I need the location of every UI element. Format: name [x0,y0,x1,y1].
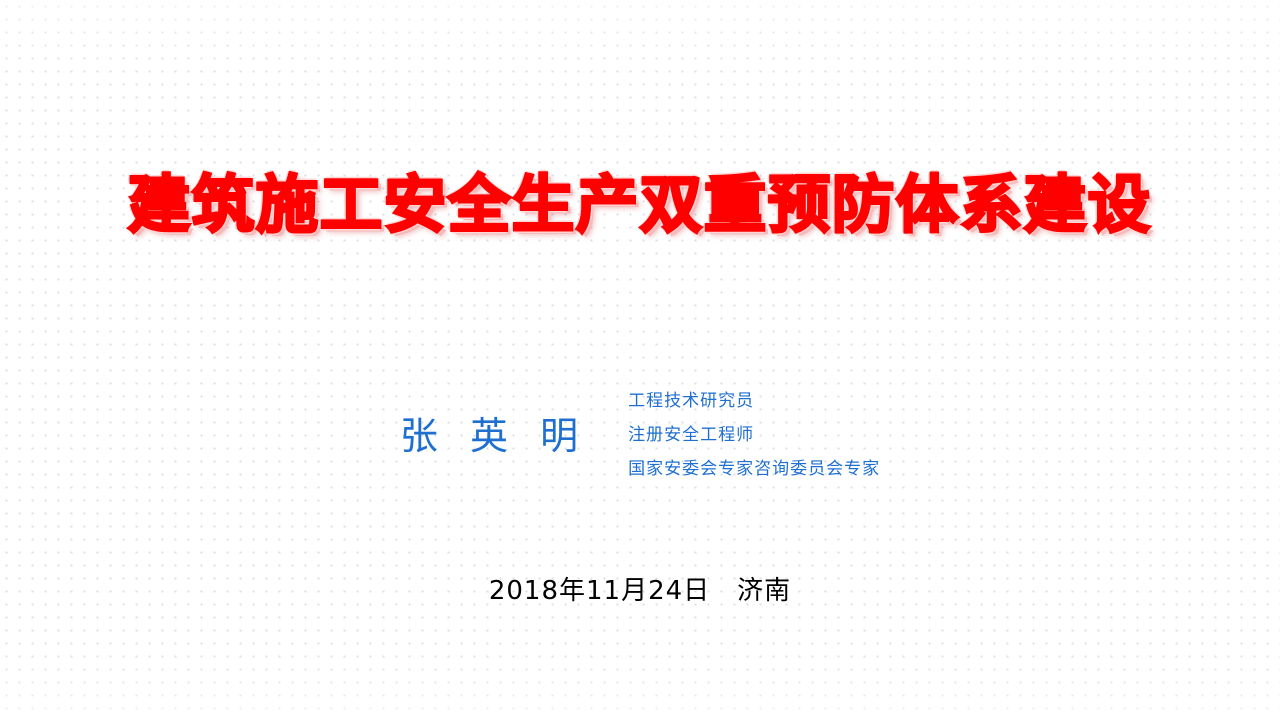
author-block: 张 英 明 工程技术研究员 注册安全工程师 国家安委会专家咨询委员会专家 [0,386,1280,479]
credential-item-3: 国家安委会专家咨询委员会专家 [628,454,880,479]
credentials-list: 工程技术研究员 注册安全工程师 国家安委会专家咨询委员会专家 [628,386,880,479]
author-inner: 张 英 明 工程技术研究员 注册安全工程师 国家安委会专家咨询委员会专家 [400,386,880,479]
footer-container: 2018年11月24日 济南 [0,570,1280,607]
credential-item-1: 工程技术研究员 [628,386,880,411]
presentation-slide: 建筑施工安全生产双重预防体系建设 张 英 明 工程技术研究员 注册安全工程师 国… [0,0,1280,720]
date-location-text: 2018年11月24日 济南 [489,576,791,606]
page-title: 建筑施工安全生产双重预防体系建设 [128,172,1152,237]
author-name: 张 英 明 [400,405,592,460]
credential-item-2: 注册安全工程师 [628,420,880,445]
title-container: 建筑施工安全生产双重预防体系建设 [0,172,1280,237]
